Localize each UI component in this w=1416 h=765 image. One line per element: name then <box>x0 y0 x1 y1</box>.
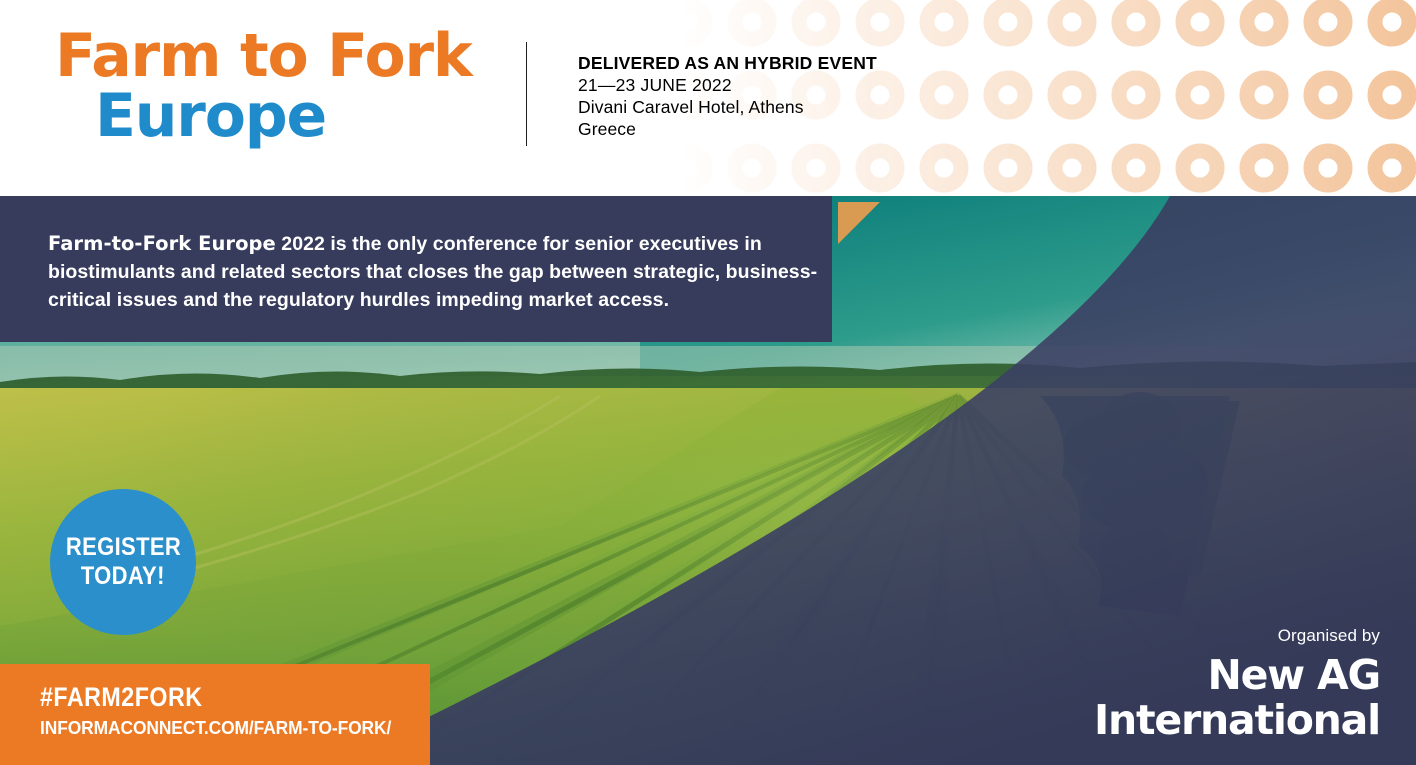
intro-paragraph: Farm-to-Fork Europe 2022 is the only con… <box>48 230 818 314</box>
header-divider <box>526 42 527 146</box>
event-details: DELIVERED AS AN HYBRID EVENT 21—23 JUNE … <box>578 52 877 140</box>
intro-lead: Farm-to-Fork Europe <box>48 232 276 255</box>
organiser-name-line1: New AG <box>1094 653 1380 697</box>
banner-header: Farm to Fork Europe DELIVERED AS AN HYBR… <box>0 0 1416 196</box>
event-country: Greece <box>578 118 877 140</box>
event-promo-banner: Farm to Fork Europe DELIVERED AS AN HYBR… <box>0 0 1416 765</box>
promo-bar: #FARM2FORK INFORMACONNECT.COM/FARM-TO-FO… <box>0 664 430 765</box>
register-label-line1: REGISTER <box>65 533 180 562</box>
organiser-block: Organised by New AG International <box>1094 625 1380 743</box>
event-dates: 21—23 JUNE 2022 <box>578 74 877 96</box>
event-logo[interactable]: Farm to Fork Europe <box>55 28 472 148</box>
event-venue: Divani Caravel Hotel, Athens <box>578 96 877 118</box>
logo-line-europe: Europe <box>55 84 472 148</box>
organised-by-label: Organised by <box>1094 625 1380 647</box>
event-format: DELIVERED AS AN HYBRID EVENT <box>578 52 877 74</box>
intro-panel: Farm-to-Fork Europe 2022 is the only con… <box>0 196 832 342</box>
hashtag-text: #FARM2FORK <box>40 682 203 712</box>
register-label-line2: TODAY! <box>81 562 165 591</box>
register-today-button[interactable]: REGISTER TODAY! <box>50 489 196 635</box>
logo-line-farm-to-fork: Farm to Fork <box>55 28 472 84</box>
organiser-name-line2: International <box>1094 697 1380 743</box>
website-url-link[interactable]: INFORMACONNECT.COM/FARM-TO-FORK/ <box>40 717 391 739</box>
